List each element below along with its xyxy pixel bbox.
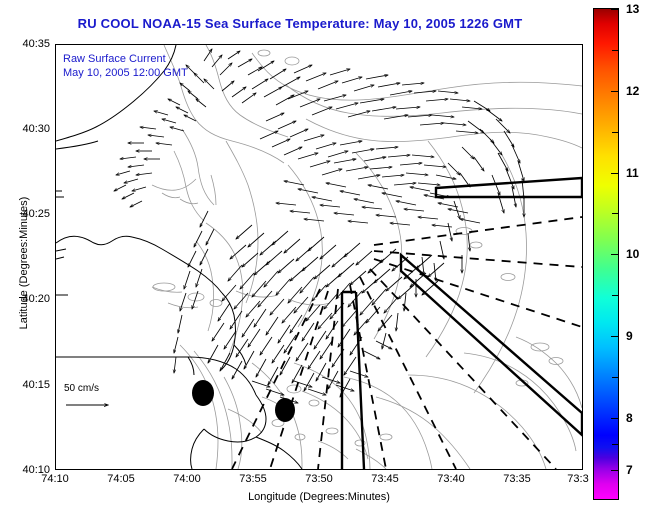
- xtick-6: 73:40: [437, 473, 465, 485]
- xtick-4: 73:50: [305, 473, 333, 485]
- ytick-5: 40:10: [22, 464, 50, 476]
- xtick-3: 73:55: [239, 473, 267, 485]
- ytick-0: 40:35: [22, 38, 50, 50]
- cbtick-7: 7: [626, 463, 633, 477]
- xtick-8: 73:3: [567, 473, 588, 485]
- xtick-1: 74:05: [107, 473, 135, 485]
- cbtick-8: 8: [626, 411, 633, 425]
- radar-beam-wedges: [342, 178, 582, 469]
- cbtick-11: 11: [626, 166, 639, 180]
- scale-reference: 50 cm/s: [64, 383, 99, 394]
- sst-contours: [152, 45, 582, 469]
- station-markers: [192, 380, 295, 422]
- cbtick-13: 13: [626, 2, 639, 16]
- station-marker: [275, 398, 295, 422]
- station-marker: [192, 380, 214, 406]
- ytick-1: 40:30: [22, 123, 50, 135]
- map-plot-area[interactable]: Raw Surface Current May 10, 2005 12:00 G…: [55, 44, 583, 470]
- page-title: RU COOL NOAA-15 Sea Surface Temperature:…: [0, 16, 600, 31]
- map-graphics: [56, 45, 582, 469]
- annotation-raw-surface-current: Raw Surface Current: [63, 53, 166, 65]
- xtick-2: 74:00: [173, 473, 201, 485]
- xtick-7: 73:35: [503, 473, 531, 485]
- annotation-timestamp: May 10, 2005 12:00 GMT: [63, 67, 188, 79]
- x-axis-label: Longitude (Degrees:Minutes): [55, 491, 583, 503]
- figure-canvas: RU COOL NOAA-15 Sea Surface Temperature:…: [0, 0, 651, 515]
- cbtick-10: 10: [626, 247, 639, 261]
- scale-reference-label: 50 cm/s: [64, 383, 99, 394]
- y-axis-label: Latitude (Degrees:Minutes): [18, 163, 30, 363]
- current-vector-field: [114, 49, 524, 403]
- xtick-5: 73:45: [371, 473, 399, 485]
- ytick-4: 40:15: [22, 379, 50, 391]
- cbtick-12: 12: [626, 84, 639, 98]
- cbtick-9: 9: [626, 329, 633, 343]
